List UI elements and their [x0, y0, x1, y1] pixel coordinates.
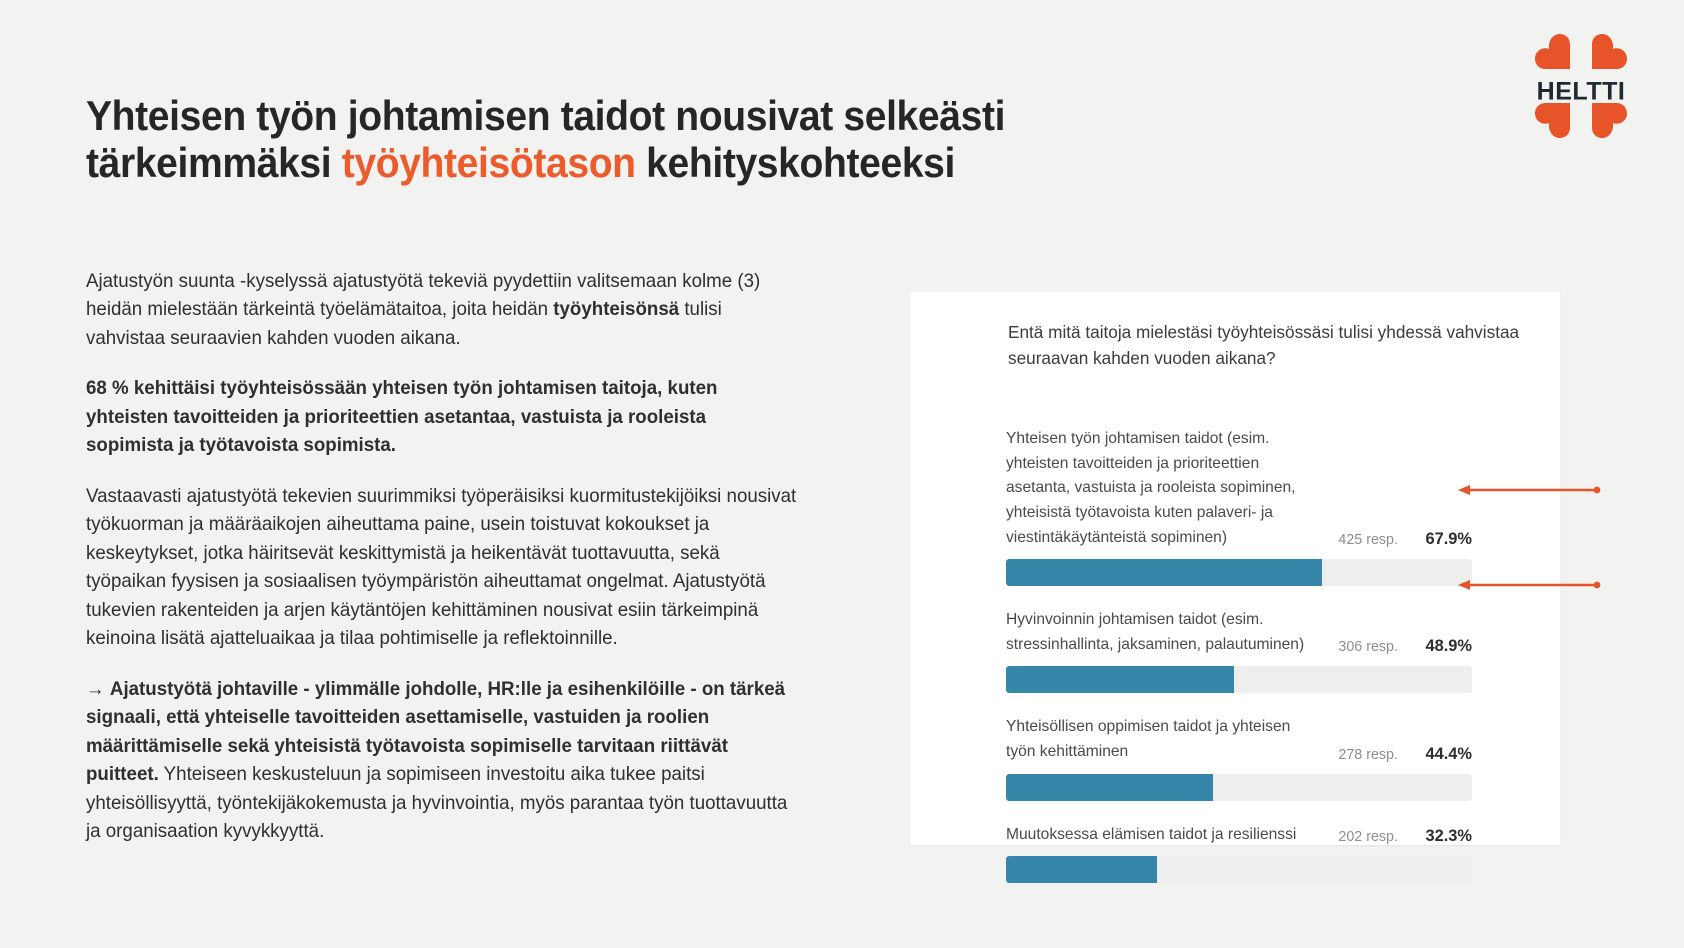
chart-bar-fill	[1006, 559, 1322, 586]
page-title: Yhteisen työn johtamisen taidot nousivat…	[86, 93, 1090, 186]
chart-bar-stats: 278 resp. 44.4%	[1338, 745, 1472, 765]
chart-bar-percent: 32.3%	[1412, 827, 1472, 846]
chart-bar-fill	[1006, 774, 1213, 801]
title-line-2-suffix: kehityskohteeksi	[636, 139, 955, 186]
title-accent-word: työyhteisötason	[342, 139, 636, 186]
chart-bar-header: Hyvinvoinnin johtamisen taidot (esim. st…	[1006, 608, 1472, 657]
chart-bar-item: Hyvinvoinnin johtamisen taidot (esim. st…	[1006, 608, 1472, 693]
paragraph-highlight: 68 % kehittäisi työyhteisössään yhteisen…	[86, 374, 796, 459]
chart-bar-fill	[1006, 856, 1157, 883]
heart-top-right-icon	[1592, 34, 1627, 69]
chart-bar-percent: 48.9%	[1412, 637, 1472, 656]
heart-top-left-icon	[1535, 34, 1570, 69]
chart-bar-track	[1006, 666, 1472, 693]
chart-bar-header: Muutoksessa elämisen taidot ja resiliens…	[1006, 823, 1472, 848]
slide-root: HELTTI Yhteisen työn johtamisen taidot n…	[0, 0, 1684, 948]
chart-bar-percent: 67.9%	[1412, 530, 1472, 549]
paragraph-intro: Ajatustyön suunta -kyselyssä ajatustyötä…	[86, 267, 796, 352]
chart-bar-fill	[1006, 666, 1234, 693]
chart-bar-label: Yhteisen työn johtamisen taidot (esim. y…	[1006, 427, 1306, 550]
chart-bar-item: Yhteisöllisen oppimisen taidot ja yhteis…	[1006, 715, 1472, 800]
paragraph-stressors: Vastaavasti ajatustyötä tekevien suurimm…	[86, 482, 796, 653]
chart-bar-percent: 44.4%	[1412, 745, 1472, 764]
chart-bar-stats: 425 resp. 67.9%	[1338, 530, 1472, 550]
paragraph-highlight-bold: 68 % kehittäisi työyhteisössään yhteisen…	[86, 377, 717, 456]
heart-bottom-left-icon	[1535, 103, 1570, 138]
right-arrow-icon: →	[86, 678, 110, 700]
title-line-1: Yhteisen työn johtamisen taidot nousivat…	[86, 92, 1005, 139]
heltti-logo: HELTTI	[1525, 30, 1637, 142]
chart-bar-responses: 425 resp.	[1338, 532, 1398, 548]
chart-question: Entä mitä taitoja mielestäsi työyhteisös…	[1008, 320, 1528, 372]
chart-bar-label: Yhteisöllisen oppimisen taidot ja yhteis…	[1006, 715, 1306, 764]
chart-bar-responses: 202 resp.	[1338, 829, 1398, 845]
chart-bar-track	[1006, 856, 1472, 883]
chart-bar-track	[1006, 774, 1472, 801]
chart-bar-item: Yhteisen työn johtamisen taidot (esim. y…	[1006, 427, 1472, 586]
chart-bar-header: Yhteisen työn johtamisen taidot (esim. y…	[1006, 427, 1472, 550]
chart-bar-track	[1006, 559, 1472, 586]
paragraph-intro-bold: työyhteisönsä	[553, 298, 679, 320]
logo-wordmark: HELTTI	[1537, 78, 1626, 106]
chart-bar-label: Hyvinvoinnin johtamisen taidot (esim. st…	[1006, 608, 1306, 657]
chart-bar-item: Muutoksessa elämisen taidot ja resiliens…	[1006, 823, 1472, 884]
paragraph-conclusion: → Ajatustyötä johtaville - ylimmälle joh…	[86, 675, 796, 846]
chart-bar-stats: 306 resp. 48.9%	[1338, 637, 1472, 657]
chart-bars: Yhteisen työn johtamisen taidot (esim. y…	[1006, 427, 1472, 883]
chart-bar-header: Yhteisöllisen oppimisen taidot ja yhteis…	[1006, 715, 1472, 764]
chart-bar-stats: 202 resp. 32.3%	[1338, 827, 1472, 847]
chart-bar-label: Muutoksessa elämisen taidot ja resiliens…	[1006, 823, 1306, 848]
title-line-2-prefix: tärkeimmäksi	[86, 139, 342, 186]
paragraph-conclusion-rest: Yhteiseen keskusteluun ja sopimiseen inv…	[86, 763, 787, 842]
chart-bar-responses: 306 resp.	[1338, 639, 1398, 655]
heart-bottom-right-icon	[1592, 103, 1627, 138]
chart-bar-responses: 278 resp.	[1338, 747, 1398, 763]
survey-chart-card: Entä mitä taitoja mielestäsi työyhteisös…	[910, 292, 1560, 845]
body-text-column: Ajatustyön suunta -kyselyssä ajatustyötä…	[86, 267, 796, 845]
